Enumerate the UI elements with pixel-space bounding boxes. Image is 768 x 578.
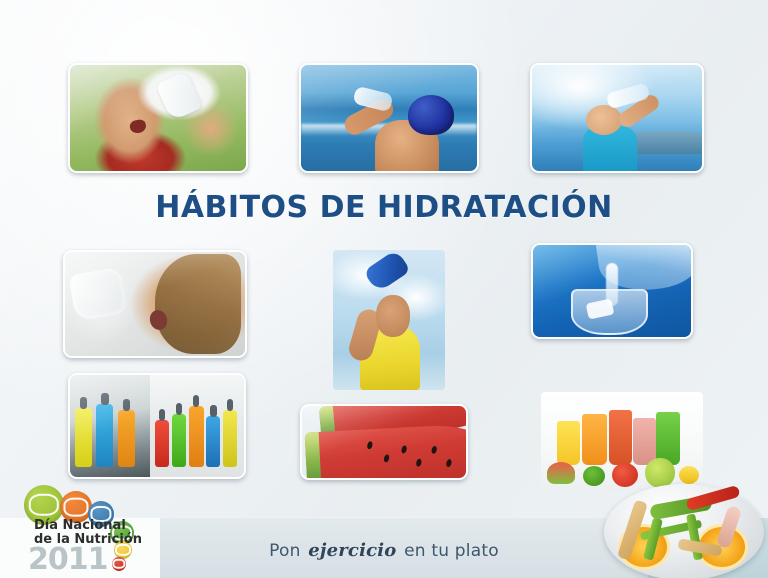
photo-watermelon: Rebanadas de sandía fresca [300,404,468,480]
photo-closeup-drinking: Primer plano de persona bebiendo agua de… [63,250,247,358]
page-title: HÁBITOS DE HIDRATACIÓN [0,190,768,225]
logo-year: 2011 [28,545,108,575]
circle-red-icon [112,557,126,571]
photo-swimmer-beach: Nadador con gorro azul bebiendo agua en … [299,63,479,173]
food-bicycle-plate: Bicicleta hecha con alimentos sobre un p… [604,484,764,578]
photo-pouring-water: Jarra sirviendo agua en un vaso con hiel… [531,243,693,339]
watermelon-seed [366,441,373,450]
photo-sports-drinks-image [70,375,244,477]
photo-closeup-drinking-image [65,252,245,356]
photo-watermelon-image [302,406,466,478]
watermelon-slice [305,423,468,480]
broccoli-piece [583,466,605,486]
watermelon-seed [431,445,438,454]
drink-bottle [96,404,113,467]
photo-sports-drinks: Bebidas isotónicas y energéticas de colo… [68,373,246,479]
tagline-emphasis: ejercicio [306,540,398,561]
swim-cap-shape [408,95,454,135]
logo-line-1: Día Nacional [34,519,142,533]
blue-bottle-icon [363,250,411,293]
photo-fruit-vegetable-juices-image [541,392,703,490]
open-mouth-shape [129,119,147,135]
drink-bottle [75,408,92,467]
watermelon-seed [415,458,422,467]
drink-bottle [118,410,135,467]
juice-glass [633,418,656,465]
drinks-left-half [70,375,150,477]
lemon-piece [679,466,699,484]
photo-woman-yellow-top-image [333,250,445,390]
drink-bottle [223,410,237,467]
drink-bottle [189,406,204,467]
photo-swimmer-beach-image [301,65,477,171]
juice-glass [557,421,580,464]
photo-woman-yellow-top: Mujer con top amarillo bebiendo de una b… [333,250,445,390]
juice-glass [609,410,632,465]
watermelon-piece [547,462,575,484]
drinks-right-half [150,375,244,477]
juice-glass [656,412,680,465]
watermelon-seed [401,445,408,454]
tagline-prefix: Pon [269,541,300,561]
photo-man-drinking-grass-image [70,65,246,171]
water-bottle-icon [69,267,128,321]
slide-canvas: Hombre con camiseta roja bebiendo de un … [0,0,768,578]
photo-fruit-vegetable-juices: Jugos y licuados de frutas y verduras co… [541,392,703,490]
logo-dia-nacional-nutricion: Día Nacional de la Nutrición 2011 [8,479,193,574]
drink-bottle [155,420,169,467]
sports-bottle-icon [155,70,202,120]
hair-shape [155,254,241,354]
drink-bottle [172,414,186,467]
photo-woman-blue-top-image [532,65,702,171]
photo-woman-blue-top: Mujer con top azul bebiendo agua de una … [530,63,704,173]
face-shape [376,295,410,337]
drink-bottle [206,416,220,467]
juice-glass [582,414,608,465]
photo-pouring-water-image [533,245,691,337]
watermelon-seed [383,454,390,463]
photo-man-drinking-grass: Hombre con camiseta roja bebiendo de un … [68,63,248,173]
watermelon-seed [445,459,452,468]
tagline-suffix: en tu plato [404,541,499,561]
watermelon-rind [305,432,322,480]
